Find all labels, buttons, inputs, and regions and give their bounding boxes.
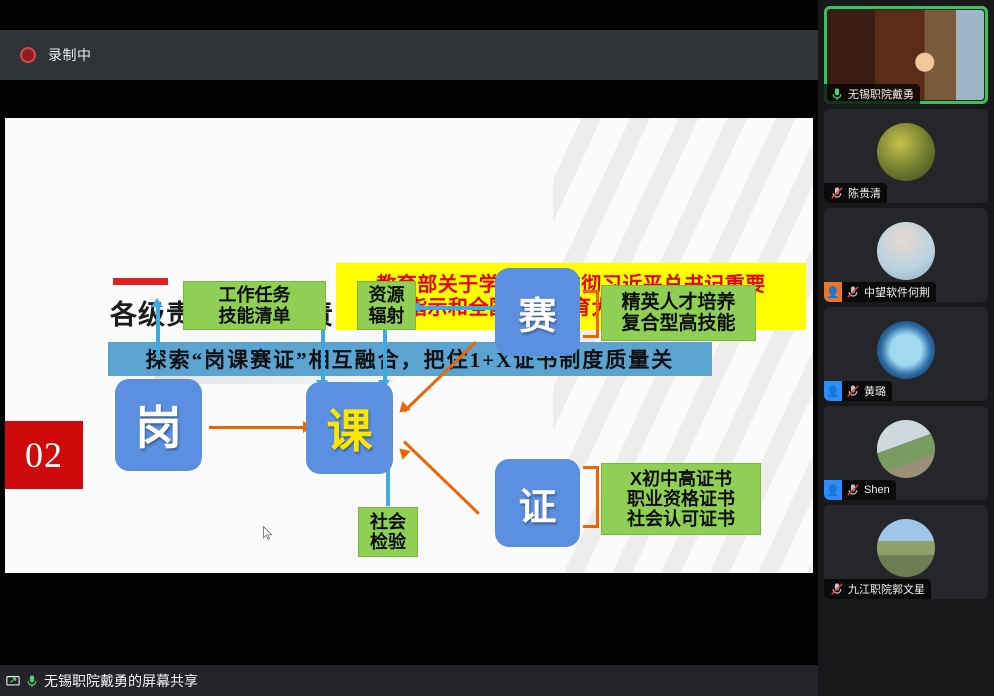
avatar: [877, 321, 935, 379]
connector-task-to-ke: [321, 329, 325, 383]
zoom-meeting-window: 录制中 02 各级责任主体职责 教育部关于学习宣传贯彻习近平总书记重要 指示和全…: [0, 0, 994, 696]
connector-gang-to-ke: [209, 426, 305, 429]
connector-resource-to-ke: [383, 330, 387, 383]
elite-line-1: 精英人才培养: [621, 292, 735, 313]
subtitle-band: 探索“岗课赛证”相互融合，把住1+X证书制度质量关: [108, 342, 712, 376]
participant-name-bar: 👤 中望软件何荆: [824, 282, 936, 302]
participant-name: Shen: [864, 484, 890, 496]
society-line-1: 社会: [370, 512, 406, 532]
host-badge-icon: 👤: [824, 282, 842, 302]
participant-name-bar: 无锡职院戴勇: [824, 84, 920, 104]
section-number-badge: 02: [5, 421, 83, 489]
participants-panel[interactable]: 无锡职院戴勇 陈贵清 👤: [818, 0, 994, 696]
avatar: [877, 222, 935, 280]
arrowhead-up-task: [151, 298, 163, 307]
shared-screen-stage: 录制中 02 各级责任主体职责 教育部关于学习宣传贯彻习近平总书记重要 指示和全…: [0, 0, 818, 696]
share-status-label: 无锡职院戴勇的屏幕共享: [44, 671, 198, 691]
green-box-elite: 精英人才培养 复合型高技能: [601, 285, 756, 341]
participant-name: 无锡职院戴勇: [848, 86, 914, 102]
participant-name-bar: 👤 黄璐: [824, 381, 892, 401]
microphone-muted-icon: [830, 186, 844, 200]
user-badge-icon: 👤: [824, 480, 842, 500]
node-zheng: 证: [495, 459, 580, 547]
cert-line-1: X初中高证书: [630, 469, 732, 489]
microphone-muted-icon: [846, 483, 860, 497]
participant-name: 陈贵清: [848, 185, 881, 201]
record-dot-icon: [20, 47, 36, 63]
node-ke: 课: [306, 382, 393, 474]
participant-tile[interactable]: 👤 Shen: [824, 406, 988, 500]
society-line-2: 检验: [370, 532, 406, 552]
green-box-society: 社会 检验: [358, 507, 418, 557]
bracket-zheng: [583, 466, 599, 528]
user-badge-icon: 👤: [824, 381, 842, 401]
avatar: [877, 519, 935, 577]
bracket-sai: [583, 290, 599, 338]
recording-bar: 录制中: [0, 30, 818, 80]
microphone-muted-icon: [846, 285, 860, 299]
participant-tile[interactable]: 👤 中望软件何荆: [824, 208, 988, 302]
connector-sai-to-resource: [417, 306, 495, 310]
participant-name-bar: 👤 Shen: [824, 480, 896, 500]
avatar: [877, 123, 935, 181]
green-box-certificates: X初中高证书 职业资格证书 社会认可证书: [601, 463, 761, 535]
presentation-slide: 02 各级责任主体职责 教育部关于学习宣传贯彻习近平总书记重要 指示和全国职业教…: [5, 118, 813, 573]
participant-name: 中望软件何荆: [864, 284, 930, 300]
participant-name-bar: 陈贵清: [824, 183, 887, 203]
elite-line-2: 复合型高技能: [621, 313, 735, 334]
work-task-line-2: 技能清单: [219, 306, 291, 326]
cert-line-3: 社会认可证书: [627, 509, 735, 529]
connector-gang-to-task: [156, 304, 160, 360]
green-box-resource: 资源 辐射: [357, 281, 416, 330]
recording-label: 录制中: [48, 45, 92, 65]
title-rule: [113, 278, 168, 285]
microphone-icon: [25, 674, 39, 688]
node-gang: 岗: [115, 379, 202, 471]
screen-share-icon: [6, 674, 20, 688]
resource-line-1: 资源: [369, 285, 405, 305]
resource-line-2: 辐射: [369, 306, 405, 326]
participant-tile[interactable]: 无锡职院戴勇: [824, 6, 988, 104]
work-task-line-1: 工作任务: [219, 285, 291, 305]
participant-name: 黄璐: [864, 383, 886, 399]
participant-name-bar: 九江职院郭文星: [824, 579, 931, 599]
microphone-muted-icon: [846, 384, 860, 398]
microphone-icon: [830, 87, 844, 101]
node-sai: 赛: [495, 268, 580, 356]
avatar: [877, 420, 935, 478]
connector-zheng-to-ke: [403, 440, 480, 514]
microphone-muted-icon: [830, 582, 844, 596]
cert-line-2: 职业资格证书: [627, 489, 735, 509]
participant-tile[interactable]: 九江职院郭文星: [824, 505, 988, 599]
mouse-cursor: [263, 526, 273, 540]
green-box-work-task: 工作任务 技能清单: [183, 281, 326, 330]
participant-name: 九江职院郭文星: [848, 581, 925, 597]
participant-tile[interactable]: 陈贵清: [824, 109, 988, 203]
share-status-bar: 无锡职院戴勇的屏幕共享: [0, 665, 818, 696]
participant-tile[interactable]: 👤 黄璐: [824, 307, 988, 401]
